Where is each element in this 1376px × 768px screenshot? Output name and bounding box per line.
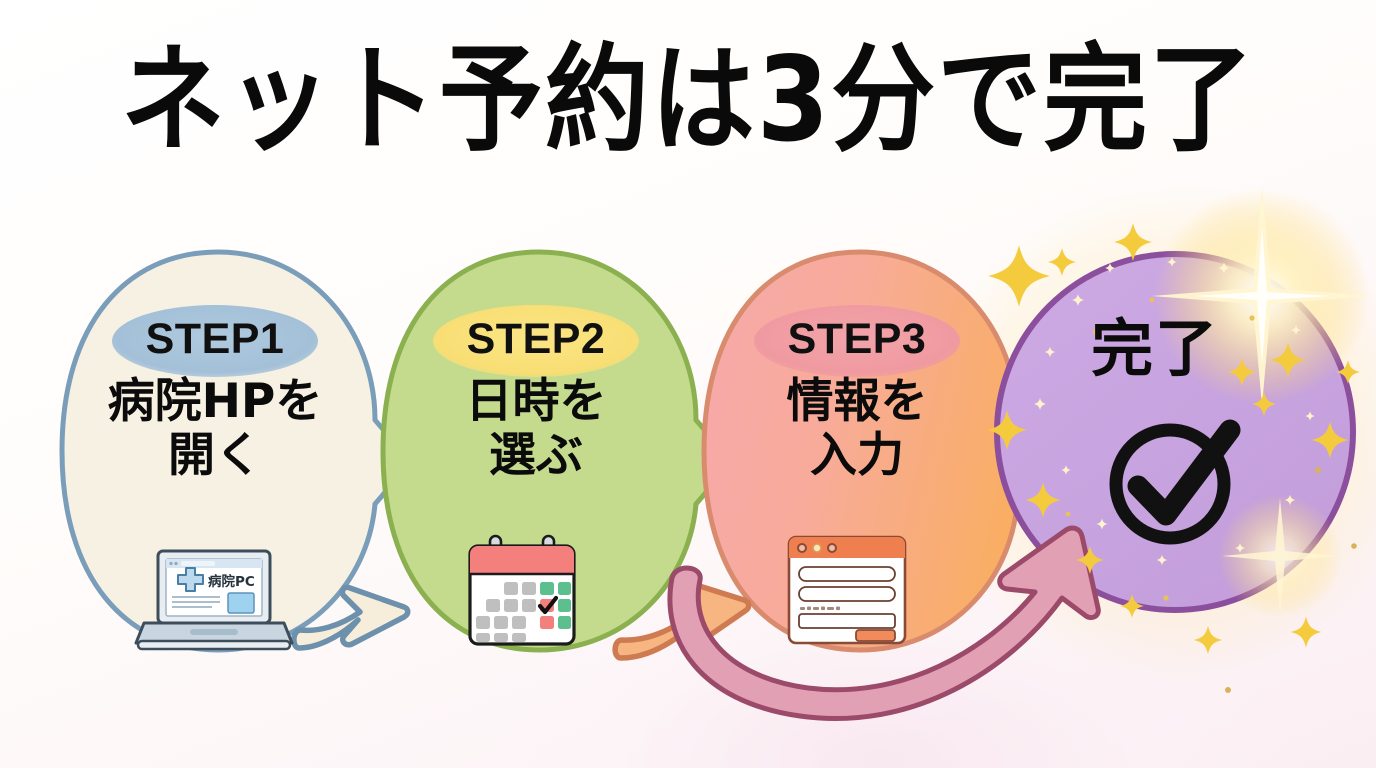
laptop-screen-label: 病院PC: [208, 573, 255, 590]
calendar-icon: [459, 534, 585, 650]
page-title: ネット予約は3分で完了: [121, 39, 1255, 161]
form-window-icon: [786, 534, 908, 646]
arrow-step1-to-step2: [294, 587, 408, 648]
check-circle-icon: [1098, 398, 1260, 560]
step2-icon[interactable]: [459, 534, 585, 655]
infographic-canvas: ネット予約は3分で完了: [0, 0, 1376, 768]
step3-icon[interactable]: [786, 534, 908, 651]
title-container: ネット予約は3分で完了: [0, 46, 1376, 155]
done-icon[interactable]: [1098, 398, 1260, 565]
step1-icon[interactable]: 病院PC: [134, 548, 294, 657]
laptop-icon: 病院PC: [134, 548, 294, 652]
form-submit-button: [856, 630, 895, 641]
